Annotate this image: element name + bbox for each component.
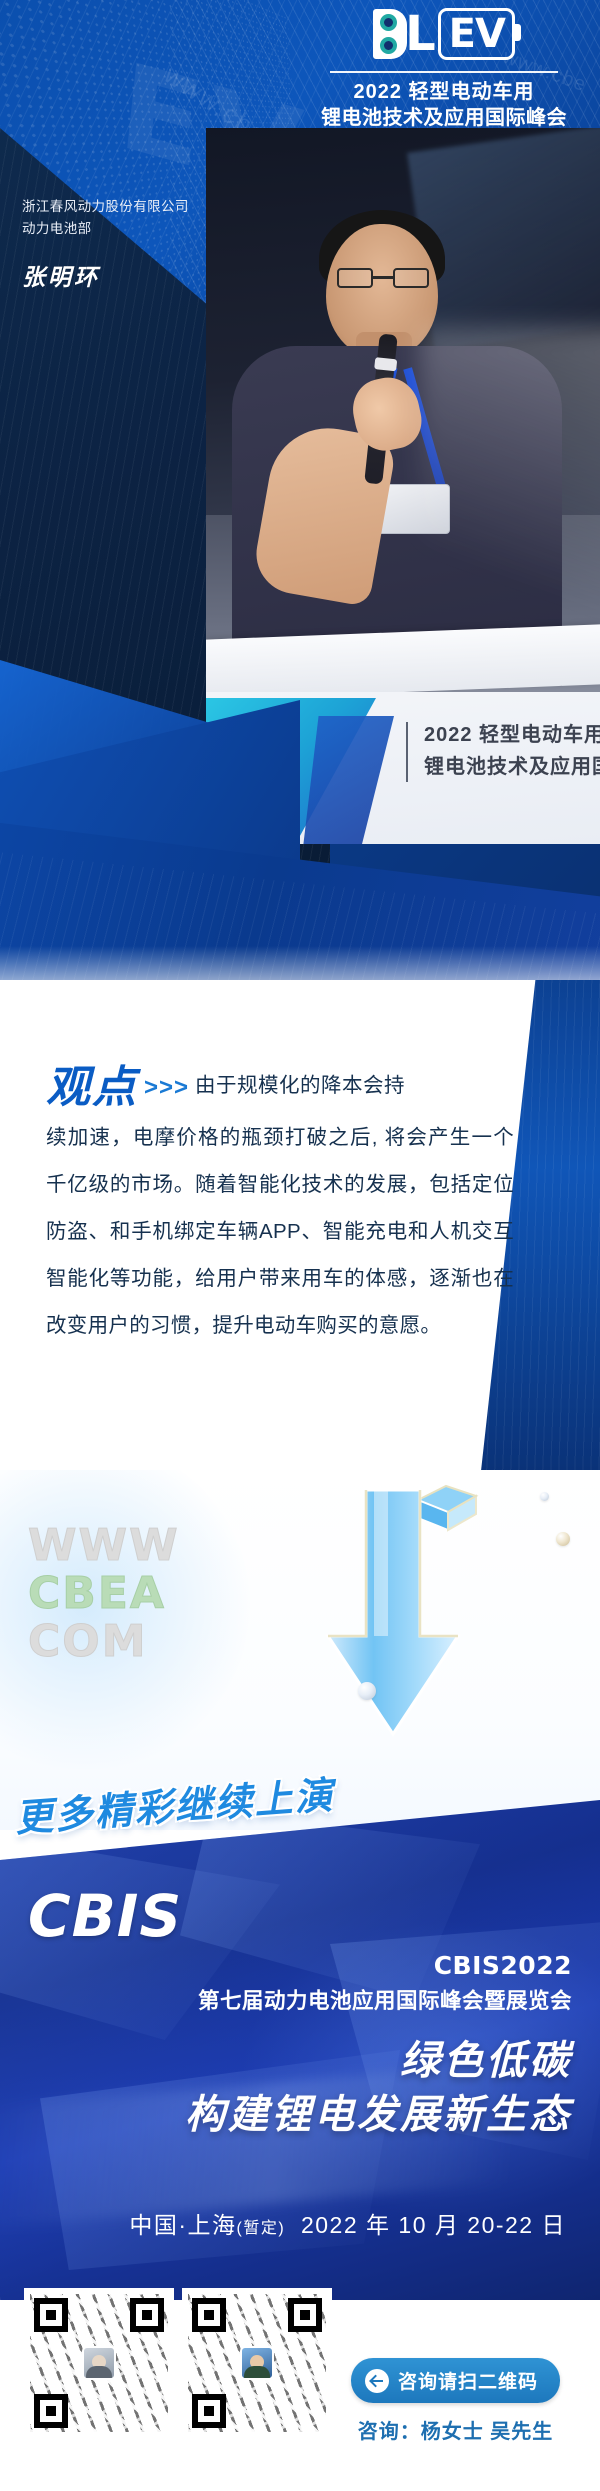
quote-heading-row: 观点 >>> 由于规模化的降本会持 (46, 1062, 514, 1112)
glasses-icon (337, 268, 429, 288)
footer-section: 咨询请扫二维码 咨询：杨女士 吴先生 (0, 2348, 600, 2491)
speaker-name: 张明环 (22, 258, 262, 292)
speaker-org-line2: 动力电池部 (22, 218, 262, 240)
cbis-location: 中国·上海 (129, 2212, 236, 2238)
blev-logo-block: L EV 2022 轻型电动车用 锂电池技术及应用国际峰会 (314, 8, 574, 132)
qr-finder-top-right-2 (288, 2298, 322, 2332)
blev-ev-badge: EV (438, 8, 515, 60)
qr-finder-bottom-left (34, 2394, 68, 2428)
cbis-subtitle: 第七届动力电池应用国际峰会暨展览会 (12, 1984, 572, 2018)
hero-section: EV www.cbea.com www.cbe (0, 0, 600, 1000)
stage-band-title-line2: 锂电池技术及应用国际峰会 (424, 750, 600, 779)
qr-finder-top-left (34, 2298, 68, 2332)
qr-finder-top-left-2 (192, 2298, 226, 2332)
stage-band-title-line1: 2022 轻型电动车用 (424, 718, 600, 747)
quote-section: 观点 >>> 由于规模化的降本会持 续加速，电摩价格的瓶颈打破之后, 将会产生一… (0, 980, 600, 1480)
scan-qr-button[interactable]: 咨询请扫二维码 (351, 2358, 560, 2403)
cbis-text-block: CBIS2022 第七届动力电池应用国际峰会暨展览会 绿色低碳 构建锂电发展新生… (12, 1950, 572, 2142)
scan-qr-label: 咨询请扫二维码 (398, 2367, 538, 2394)
quote-arrows-icon: >>> (144, 1068, 189, 1108)
qr-code-left-pattern (30, 2294, 168, 2432)
speaker-info: 浙江春风动力股份有限公司 动力电池部 张明环 (22, 196, 262, 292)
bubble-decoration-3 (358, 1682, 376, 1700)
qr-avatar-right (240, 2346, 274, 2380)
cbis-logo: CBIS (28, 1882, 182, 1950)
arrow-left-icon (365, 2369, 389, 2393)
cbis-slogan-line2: 构建锂电发展新生态 (12, 2088, 572, 2142)
qr-finder-bottom-left-2 (192, 2394, 226, 2428)
cbea-watermark-line1: WWW (28, 1522, 180, 1570)
qr-code-group (24, 2288, 332, 2438)
cbis-slogan-line1: 绿色低碳 (12, 2034, 572, 2088)
qr-code-right[interactable] (182, 2288, 332, 2438)
logo-divider (330, 71, 558, 73)
qr-code-left[interactable] (24, 2288, 174, 2438)
stage-band-divider (406, 722, 408, 782)
blev-b-mark (373, 9, 407, 59)
contact-note: 咨询：杨女士 吴先生 (351, 2415, 560, 2444)
quote-body: 续加速，电摩价格的瓶颈打破之后, 将会产生一个千亿级的市场。随着智能化技术的发展… (46, 1114, 514, 1349)
cbea-watermark-line3: COM (28, 1618, 180, 1666)
promo-banner-text: 更多精彩继续上演 (13, 1764, 336, 1842)
quote-heading: 观点 (46, 1064, 138, 1112)
bubble-decoration-2 (556, 1532, 570, 1546)
event-title-line1: 2022 轻型电动车用 (314, 79, 574, 105)
qr-finder-top-right (130, 2298, 164, 2332)
cbis-date-row: 中国·上海(暂定) 2022 年 10 月 20-22 日 (129, 2206, 566, 2240)
cbis-location-note: (暂定) (237, 2220, 286, 2237)
down-arrow-icon (318, 1486, 468, 1746)
blev-logo-icon: L EV (373, 8, 515, 60)
cbis-date: 2022 年 10 月 20-22 日 (301, 2212, 566, 2238)
bubble-decoration-1 (540, 1492, 549, 1501)
cta-block: 咨询请扫二维码 咨询：杨女士 吴先生 (351, 2358, 560, 2444)
quote-first-fragment: 由于规模化的降本会持 (195, 1062, 405, 1110)
blev-l-letter: L (405, 9, 436, 59)
event-title-line2: 锂电池技术及应用国际峰会 (314, 105, 574, 132)
speaker-org-line1: 浙江春风动力股份有限公司 (22, 196, 262, 218)
qr-avatar-left (82, 2346, 116, 2380)
cbea-watermark: WWW CBEA COM (28, 1522, 180, 1666)
cbea-watermark-line2: CBEA (28, 1570, 180, 1618)
quote-content: 观点 >>> 由于规模化的降本会持 续加速，电摩价格的瓶颈打破之后, 将会产生一… (46, 1062, 514, 1349)
qr-code-right-pattern (188, 2294, 326, 2432)
cbis-year: CBIS2022 (12, 1950, 572, 1982)
poster-root: EV www.cbea.com www.cbe (0, 0, 600, 2491)
